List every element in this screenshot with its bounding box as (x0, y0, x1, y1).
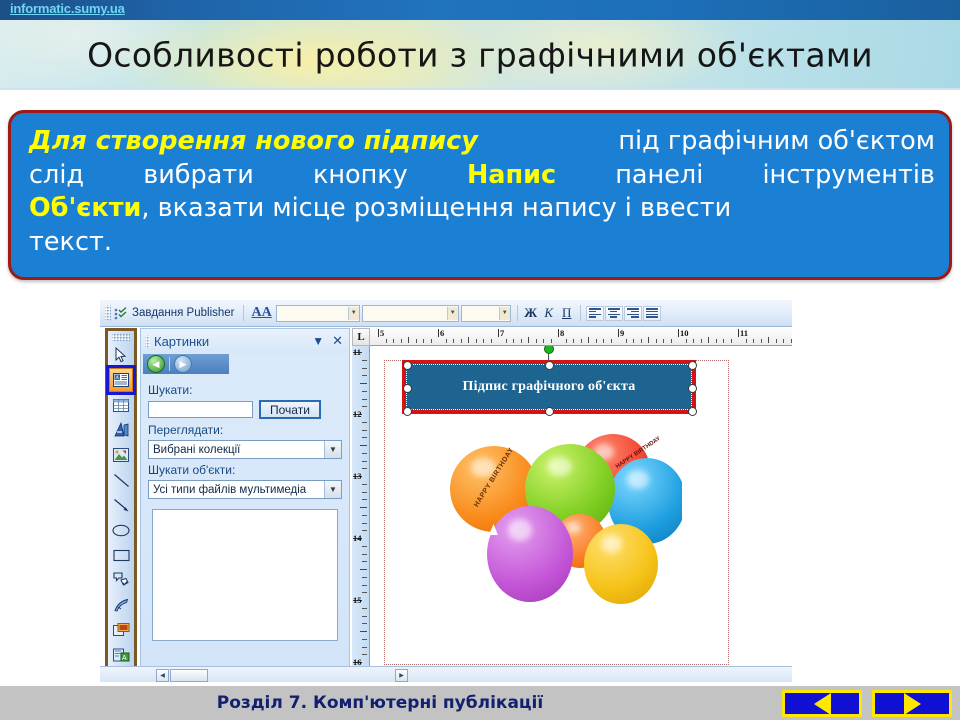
ruler-minor-tick (362, 585, 367, 586)
ruler-major-tick (498, 329, 499, 337)
ruler-minor-tick (362, 554, 367, 555)
ruler-tick-label: 7 (500, 328, 504, 338)
caption-text-box[interactable]: Підпис графічного об'єкта (406, 364, 692, 410)
callout-word-knopku: кнопку (313, 159, 408, 193)
rectangle-icon (113, 549, 130, 562)
toolbar-separator-2 (517, 305, 518, 321)
task-pane-body: Шукати: Почати Переглядати: Вибрані коле… (141, 374, 349, 641)
ruler-minor-tick (360, 383, 367, 384)
ruler-tick-label: 9 (620, 328, 624, 338)
ruler-minor-tick (746, 339, 747, 343)
horizontal-ruler[interactable]: 567891011 (370, 328, 792, 346)
resize-handle-n[interactable] (545, 361, 554, 370)
underline-button[interactable]: П (558, 305, 576, 321)
ruler-minor-tick (423, 339, 424, 343)
svg-text:A: A (115, 375, 119, 381)
resize-handle-nw[interactable] (403, 361, 412, 370)
ruler-minor-tick (362, 468, 367, 469)
ruler-corner-tab[interactable]: L (352, 328, 370, 346)
ruler-minor-tick (362, 561, 367, 562)
bold-button[interactable]: Ж (522, 305, 540, 321)
resize-handle-e[interactable] (688, 384, 697, 393)
ruler-minor-tick (408, 337, 409, 343)
tool-oval[interactable] (109, 518, 133, 542)
ruler-minor-tick (362, 492, 367, 493)
publication-canvas[interactable]: Підпис графічного об'єкта HAPPY BIRTHDAY… (370, 346, 780, 680)
callout-text-3: , вказати місце розміщення напису і ввес… (141, 193, 731, 223)
ruler-minor-tick (476, 339, 477, 343)
ruler-major-tick (378, 329, 379, 337)
wordart-icon (113, 422, 130, 438)
chapter-label: Розділ 7. Комп'ютерні публікації (0, 693, 760, 713)
ruler-minor-tick (768, 337, 769, 343)
design-icon (113, 598, 130, 613)
media-types-label: Шукати об'єкти: (148, 463, 342, 477)
tool-item-from-content-library[interactable] (109, 618, 133, 642)
rotation-handle[interactable] (544, 346, 554, 354)
task-pane-grip-icon[interactable] (145, 335, 150, 348)
ruler-minor-tick (362, 453, 367, 454)
callout-line-3: Об'єкти, вказати місце розміщення напису… (29, 192, 935, 226)
tool-insert-wordart[interactable] (109, 418, 133, 442)
ruler-minor-tick (362, 523, 367, 524)
ruler-minor-tick (536, 339, 537, 343)
banner-divider (0, 88, 960, 90)
scope-label: Переглядати: (148, 423, 342, 437)
scroll-right-button[interactable]: ▶ (395, 669, 408, 682)
ruler-minor-tick (648, 337, 649, 343)
page-title: Особливості роботи з графічними об'єктам… (0, 36, 960, 75)
ruler-minor-tick (362, 515, 367, 516)
publisher-status-bar: ◀ ▶ (100, 666, 792, 682)
checklist-icon (114, 307, 128, 320)
ruler-minor-tick (506, 339, 507, 343)
chevron-down-icon[interactable]: ▼ (499, 307, 510, 320)
ruler-tick-label: 11 (353, 347, 361, 357)
ruler-minor-tick (362, 422, 367, 423)
ruler-minor-tick (723, 339, 724, 343)
ruler-minor-tick (693, 339, 694, 343)
chevron-down-icon[interactable]: ▼ (447, 307, 458, 320)
svg-text:A: A (122, 655, 127, 662)
objects-toolbar: A (105, 328, 137, 680)
caption-text: Підпис графічного об'єкта (463, 379, 636, 395)
toolbar-grip-icon[interactable] (105, 305, 111, 321)
scroll-left-button[interactable]: ◀ (156, 669, 169, 682)
ruler-minor-tick (362, 499, 367, 500)
callout-word-slid: слід (29, 159, 84, 193)
ruler-minor-tick (521, 339, 522, 343)
prev-slide-button[interactable] (782, 690, 862, 717)
task-publisher-label: Завдання Publisher (132, 307, 235, 319)
ruler-tick-label: 5 (380, 328, 384, 338)
ruler-major-tick (558, 329, 559, 337)
tool-select-objects[interactable] (109, 343, 133, 367)
publisher-screenshot: Завдання Publisher AA ▼ ▼ ▼ Ж К П (100, 300, 792, 682)
align-right-button[interactable] (624, 306, 642, 321)
ruler-minor-tick (362, 592, 367, 593)
ruler-minor-tick (543, 339, 544, 343)
ruler-minor-tick (468, 337, 469, 343)
ruler-major-tick (618, 329, 619, 337)
ruler-minor-tick (362, 608, 367, 609)
callout-word-instrumentiv: інструментів (762, 159, 934, 193)
balloon-purple (487, 506, 573, 602)
ruler-minor-tick (783, 339, 784, 343)
tool-insert-table[interactable] (109, 393, 133, 417)
media-types-select[interactable]: Усі типи файлів мультимедіа ▼ (148, 480, 342, 499)
horizontal-scroll-thumb[interactable] (170, 669, 208, 682)
resize-handle-sw[interactable] (403, 407, 412, 416)
resize-handle-w[interactable] (403, 384, 412, 393)
ruler-tick-label: 12 (353, 409, 362, 419)
ruler-minor-tick (360, 569, 367, 570)
ruler-minor-tick (611, 339, 612, 343)
font-style-combo[interactable]: ▼ (276, 305, 360, 322)
ruler-minor-tick (581, 339, 582, 343)
textbox-icon: A (113, 373, 129, 387)
ruler-major-tick (738, 329, 739, 337)
ruler-minor-tick (431, 339, 432, 343)
slide-footer: Розділ 7. Комп'ютерні публікації (0, 686, 960, 720)
library-icon (113, 623, 130, 637)
ruler-minor-tick (360, 445, 367, 446)
font-scheme-icon[interactable]: AA (252, 305, 272, 321)
ruler-minor-tick (776, 339, 777, 343)
ruler-minor-tick (731, 339, 732, 343)
align-center-button[interactable] (605, 306, 623, 321)
search-input[interactable] (148, 401, 253, 418)
scope-select[interactable]: Вибрані колекції ▼ (148, 440, 342, 459)
ruler-minor-tick (360, 631, 367, 632)
publisher-toolbar: Завдання Publisher AA ▼ ▼ ▼ Ж К П (100, 300, 792, 327)
ruler-minor-tick (362, 577, 367, 578)
ruler-minor-tick (566, 339, 567, 343)
ruler-minor-tick (753, 339, 754, 343)
ruler-minor-tick (362, 546, 367, 547)
italic-button[interactable]: К (540, 305, 558, 321)
ruler-minor-tick (362, 399, 367, 400)
ruler-minor-tick (362, 647, 367, 648)
ruler-minor-tick (362, 406, 367, 407)
ruler-minor-tick (362, 639, 367, 640)
ruler-minor-tick (401, 339, 402, 343)
callout-line-1: Для створення нового підпису під графічн… (29, 125, 935, 159)
ruler-minor-tick (708, 337, 709, 343)
clip-art-task-pane: Картинки ▼ ✕ ◀ ▶ Шукати: Почати Перегляд… (140, 328, 350, 680)
ruler-minor-tick (633, 339, 634, 343)
ruler-minor-tick (362, 461, 367, 462)
triangle-left-icon (814, 693, 831, 715)
ruler-minor-tick (483, 339, 484, 343)
ruler-minor-tick (416, 339, 417, 343)
ruler-tick-label: 14 (353, 533, 362, 543)
balloon-yellow (584, 524, 658, 604)
ruler-minor-tick (641, 339, 642, 343)
table-icon (113, 399, 129, 412)
tool-autoshapes[interactable] (109, 568, 133, 592)
callout-emphasis-napys: Напис (467, 159, 556, 193)
search-label: Шукати: (148, 383, 342, 397)
close-icon[interactable]: ✕ (332, 333, 343, 349)
tool-text-box[interactable]: A (109, 368, 133, 392)
nav-separator (169, 357, 170, 371)
tool-design-gallery-object[interactable] (109, 593, 133, 617)
ruler-minor-tick (596, 339, 597, 343)
font-name-combo[interactable]: ▼ (362, 305, 459, 322)
callout-line-4: текст. (29, 226, 935, 260)
search-row: Почати (148, 400, 342, 419)
ruler-minor-tick (551, 339, 552, 343)
tool-picture-frame[interactable] (109, 443, 133, 467)
site-bar: informatic.sumy.ua (0, 0, 960, 20)
ruler-minor-tick (362, 484, 367, 485)
site-link[interactable]: informatic.sumy.ua (10, 1, 125, 16)
ruler-minor-tick (588, 337, 589, 343)
ruler-tick-label: 8 (560, 328, 564, 338)
task-pane-title: Картинки (154, 334, 312, 349)
toolbar-separator (243, 305, 244, 321)
ruler-minor-tick (791, 339, 792, 343)
ruler-tick-label: 6 (440, 328, 444, 338)
callout-emphasis-1: Для створення нового підпису (29, 125, 478, 159)
ruler-minor-tick (446, 339, 447, 343)
back-arrow-icon[interactable]: ◀ (147, 355, 165, 373)
chevron-down-icon[interactable]: ▼ (312, 334, 324, 348)
ruler-minor-tick (362, 375, 367, 376)
object-icon: A (113, 648, 130, 663)
ruler-tick-label: 13 (353, 471, 362, 481)
tool-arrow[interactable] (109, 493, 133, 517)
next-slide-button[interactable] (872, 690, 952, 717)
callout-word-vybraty: вибрати (143, 159, 254, 193)
ruler-minor-tick (626, 339, 627, 343)
autoshape-icon (113, 572, 130, 588)
align-justify-button[interactable] (643, 306, 661, 321)
media-types-value: Усі типи файлів мультимедіа (153, 484, 306, 496)
ruler-minor-tick (686, 339, 687, 343)
ruler-minor-tick (528, 337, 529, 343)
callout-line-2: слід вибрати кнопку Напис панелі інструм… (29, 159, 935, 193)
tool-rectangle[interactable] (109, 543, 133, 567)
picture-icon (113, 448, 129, 462)
task-publisher-button[interactable]: Завдання Publisher (114, 307, 235, 320)
callout-text-1: під графічним об'єктом (618, 125, 935, 159)
scope-value: Вибрані колекції (153, 444, 240, 456)
ruler-minor-tick (362, 430, 367, 431)
chevron-down-icon[interactable]: ▼ (348, 307, 359, 320)
info-callout: Для створення нового підпису під графічн… (8, 110, 952, 280)
objects-toolbar-grip-icon[interactable] (112, 334, 130, 341)
forward-arrow-icon[interactable]: ▶ (174, 355, 192, 373)
ruler-minor-tick (362, 654, 367, 655)
arrow-icon (113, 498, 130, 513)
task-pane-header: Картинки ▼ ✕ (141, 329, 349, 353)
ruler-minor-tick (453, 339, 454, 343)
triangle-right-icon (904, 693, 921, 715)
ruler-minor-tick (491, 339, 492, 343)
ruler-minor-tick (761, 339, 762, 343)
ruler-minor-tick (461, 339, 462, 343)
ruler-tick-label: 15 (353, 595, 362, 605)
ruler-minor-tick (663, 339, 664, 343)
task-pane-nav: ◀ ▶ (143, 354, 229, 374)
callout-word-paneli: панелі (615, 159, 703, 193)
resize-handle-s[interactable] (545, 407, 554, 416)
font-size-combo[interactable]: ▼ (461, 305, 511, 322)
ruler-major-tick (438, 329, 439, 337)
callout-text: Для створення нового підпису під графічн… (29, 125, 935, 260)
ruler-minor-tick (362, 391, 367, 392)
ruler-minor-tick (362, 623, 367, 624)
ruler-minor-tick (716, 339, 717, 343)
ruler-minor-tick (513, 339, 514, 343)
title-banner: Особливості роботи з графічними об'єктам… (0, 20, 960, 90)
ruler-minor-tick (362, 437, 367, 438)
ruler-minor-tick (573, 339, 574, 343)
ruler-minor-tick (656, 339, 657, 343)
line-icon (113, 473, 130, 488)
ruler-minor-tick (671, 339, 672, 343)
ruler-minor-tick (393, 339, 394, 343)
ruler-tick-label: 10 (680, 328, 689, 338)
tool-insert-object[interactable]: A (109, 643, 133, 667)
ruler-minor-tick (362, 368, 367, 369)
ruler-minor-tick (360, 507, 367, 508)
search-go-button[interactable]: Почати (259, 400, 321, 419)
ruler-minor-tick (701, 339, 702, 343)
chevron-down-icon[interactable]: ▼ (324, 481, 341, 498)
ruler-major-tick (678, 329, 679, 337)
ruler-minor-tick (362, 530, 367, 531)
vertical-ruler[interactable]: 111213141516 (352, 346, 370, 680)
resize-handle-ne[interactable] (688, 361, 697, 370)
callout-emphasis-obiekty: Об'єкти (29, 193, 141, 223)
toolbar-separator-3 (580, 305, 581, 321)
oval-icon (112, 524, 130, 537)
align-left-button[interactable] (586, 306, 604, 321)
balloons-picture[interactable]: HAPPY BIRTHDAY HAPPY BIRTHDAY (412, 428, 682, 638)
ruler-tick-label: 11 (740, 328, 748, 338)
ruler-minor-tick (603, 339, 604, 343)
chevron-down-icon[interactable]: ▼ (324, 441, 341, 458)
search-results-area[interactable] (152, 509, 338, 641)
ruler-minor-tick (362, 616, 367, 617)
ruler-minor-tick (362, 360, 367, 361)
pointer-icon (113, 347, 129, 363)
tool-line[interactable] (109, 468, 133, 492)
ruler-minor-tick (386, 339, 387, 343)
resize-handle-se[interactable] (688, 407, 697, 416)
